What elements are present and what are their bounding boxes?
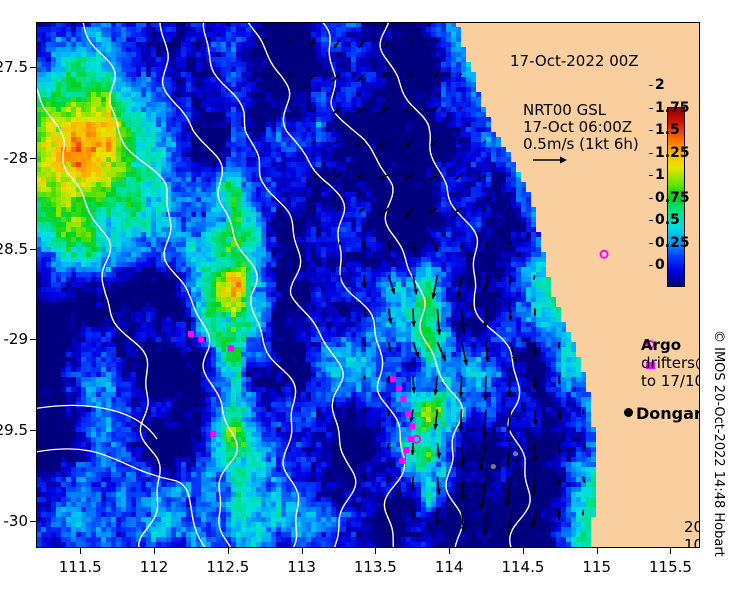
- colorbar-tick: [649, 175, 653, 176]
- x-tick: [597, 548, 598, 554]
- depth-key-1000m: 1000m: [684, 536, 700, 548]
- y-tick-label: -29.5: [0, 421, 28, 439]
- y-tick-label: -28: [0, 149, 28, 167]
- colorbar-tick-label: 1: [655, 167, 665, 183]
- y-tick-label: -30: [0, 512, 28, 530]
- colorbar-tick-label: 1.5: [655, 122, 680, 138]
- vector-scale: 0.5m/s (1kt 6h): [523, 136, 639, 153]
- colorbar-tick-label: 1.75: [655, 100, 690, 116]
- x-tick: [228, 548, 229, 554]
- x-tick-label: 114.5: [488, 558, 558, 576]
- y-tick-label: -28.5: [0, 240, 28, 258]
- colorbar-tick-label: 0.75: [655, 190, 690, 206]
- argo-legend-label: Argo: [641, 336, 700, 354]
- y-tick-label: -29: [0, 330, 28, 348]
- colorbar-tick-label: 1.25: [655, 145, 690, 161]
- colorbar-tick: [649, 265, 653, 266]
- depth-key-200m: 200m: [684, 518, 700, 536]
- colorbar-tick: [649, 85, 653, 86]
- x-tick: [670, 548, 671, 554]
- colorbar-tick: [649, 220, 653, 221]
- x-tick-label: 114: [414, 558, 484, 576]
- x-tick: [523, 548, 524, 554]
- y-tick: [30, 158, 36, 159]
- drifter-legend-label: drifters@6h: [641, 354, 700, 372]
- colorbar-tick: [649, 108, 653, 109]
- drifter-legend-period: to 17/10 12Z: [641, 372, 700, 390]
- colorbar-tick: [649, 243, 653, 244]
- x-tick: [80, 548, 81, 554]
- y-tick: [30, 430, 36, 431]
- colorbar-title: Age (days) of filled SST (wrt latest): [698, 58, 700, 336]
- x-tick: [449, 548, 450, 554]
- x-tick: [375, 548, 376, 554]
- x-tick: [154, 548, 155, 554]
- colorbar-tick-label: 0: [655, 257, 665, 273]
- credit-text: © IMOS 20-Oct-2022 14:48 Hobart: [711, 330, 726, 557]
- dongara-marker-icon: [624, 408, 633, 417]
- colorbar-tick: [649, 153, 653, 154]
- argo-drifter-legend: Argo drifters@6h to 17/10 12Z: [641, 336, 700, 390]
- vector-scale-arrow-icon: [533, 154, 567, 166]
- y-tick-label: -27.5: [0, 58, 28, 76]
- x-tick-label: 111.5: [45, 558, 115, 576]
- model-annotation: NRT00 GSL 17-Oct 06:00Z 0.5m/s (1kt 6h): [523, 102, 639, 153]
- sst-age-map-figure: 17-Oct-2022 00Z NRT00 GSL 17-Oct 06:00Z …: [0, 0, 740, 592]
- colorbar-tick-label: 0.5: [655, 212, 680, 228]
- colorbar-tick-label: 2: [655, 77, 665, 93]
- colorbar-tick: [649, 130, 653, 131]
- dongara-label: Dongara: [636, 404, 700, 423]
- colorbar-tick-label: 0.25: [655, 235, 690, 251]
- x-tick: [302, 548, 303, 554]
- y-tick: [30, 249, 36, 250]
- x-tick-label: 113: [267, 558, 337, 576]
- x-tick-label: 115: [562, 558, 632, 576]
- y-tick: [30, 67, 36, 68]
- x-tick-label: 115.5: [635, 558, 705, 576]
- model-name: NRT00 GSL: [523, 102, 639, 119]
- x-tick-label: 113.5: [340, 558, 410, 576]
- model-time: 17-Oct 06:00Z: [523, 119, 639, 136]
- colorbar-tick: [649, 198, 653, 199]
- y-tick: [30, 521, 36, 522]
- x-tick-label: 112: [119, 558, 189, 576]
- date-stamp: 17-Oct-2022 00Z: [510, 52, 639, 70]
- depth-contour-key: 200m 1000m: [684, 518, 700, 548]
- map-plot-area[interactable]: 17-Oct-2022 00Z NRT00 GSL 17-Oct 06:00Z …: [36, 22, 700, 548]
- x-tick-label: 112.5: [193, 558, 263, 576]
- y-tick: [30, 339, 36, 340]
